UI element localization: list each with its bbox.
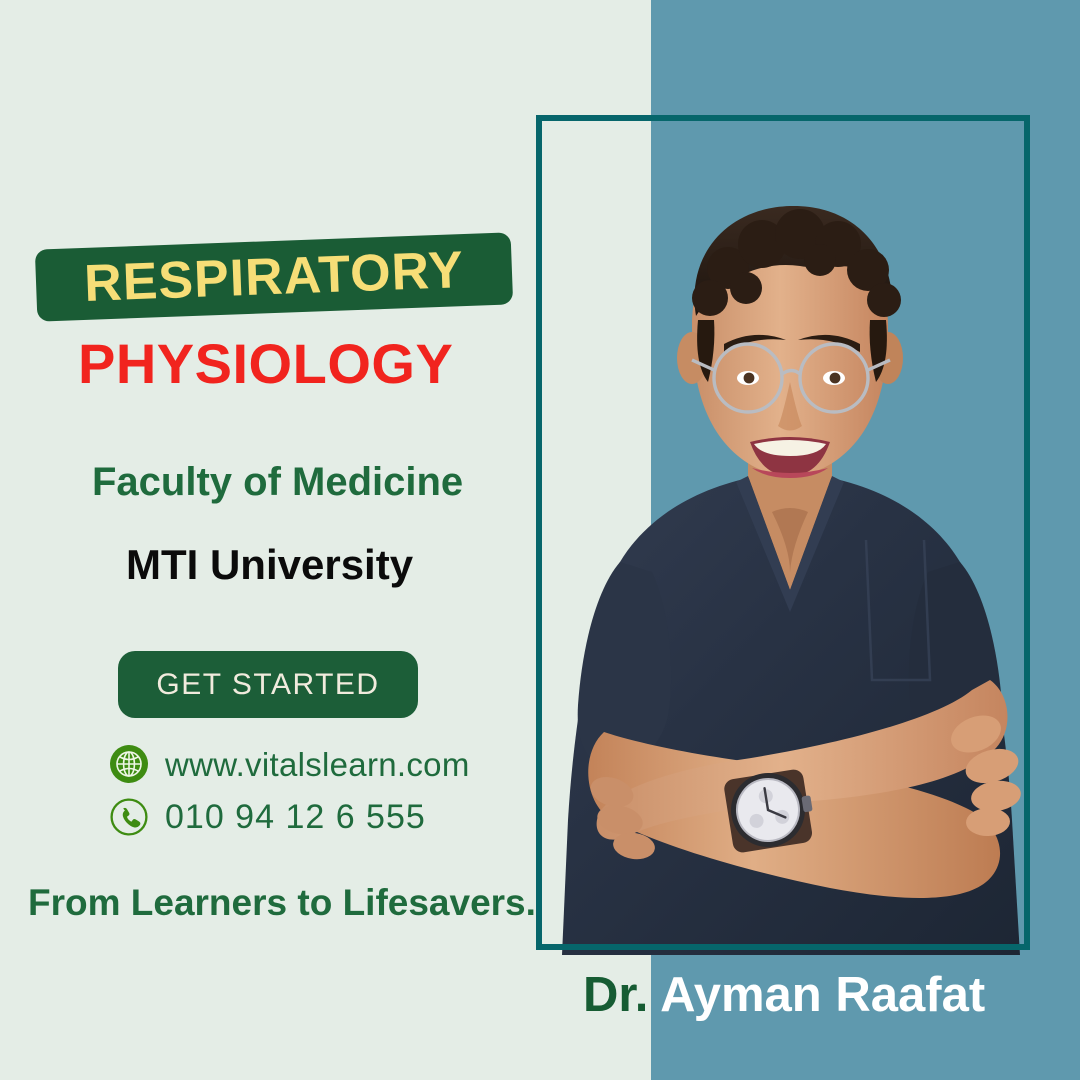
poster-canvas: RESPIRATORY PHYSIOLOGY Faculty of Medici… [0, 0, 1080, 1080]
get-started-label: GET STARTED [156, 670, 379, 700]
physiology-heading: PHYSIOLOGY [78, 336, 453, 392]
phone-text: 010 94 12 6 555 [165, 800, 426, 834]
get-started-button[interactable]: GET STARTED [118, 651, 418, 718]
tagline-text: From Learners to Lifesavers. [28, 884, 536, 921]
globe-icon [110, 745, 148, 783]
phone-contact-row[interactable]: 010 94 12 6 555 [110, 798, 426, 836]
website-contact-row[interactable]: www.vitalslearn.com [110, 745, 470, 783]
university-line: MTI University [126, 544, 413, 586]
content-column: RESPIRATORY PHYSIOLOGY Faculty of Medici… [0, 0, 651, 1080]
faculty-line: Faculty of Medicine [92, 462, 463, 502]
doctor-prefix: Dr. [583, 968, 648, 1022]
phone-icon [110, 798, 148, 836]
doctor-fullname: Ayman Raafat [660, 968, 985, 1022]
respiratory-badge: RESPIRATORY [35, 232, 513, 321]
website-text: www.vitalslearn.com [165, 748, 470, 781]
badge-label: RESPIRATORY [83, 244, 465, 310]
doctor-name-label: Dr. Ayman Raafat [583, 971, 985, 1020]
